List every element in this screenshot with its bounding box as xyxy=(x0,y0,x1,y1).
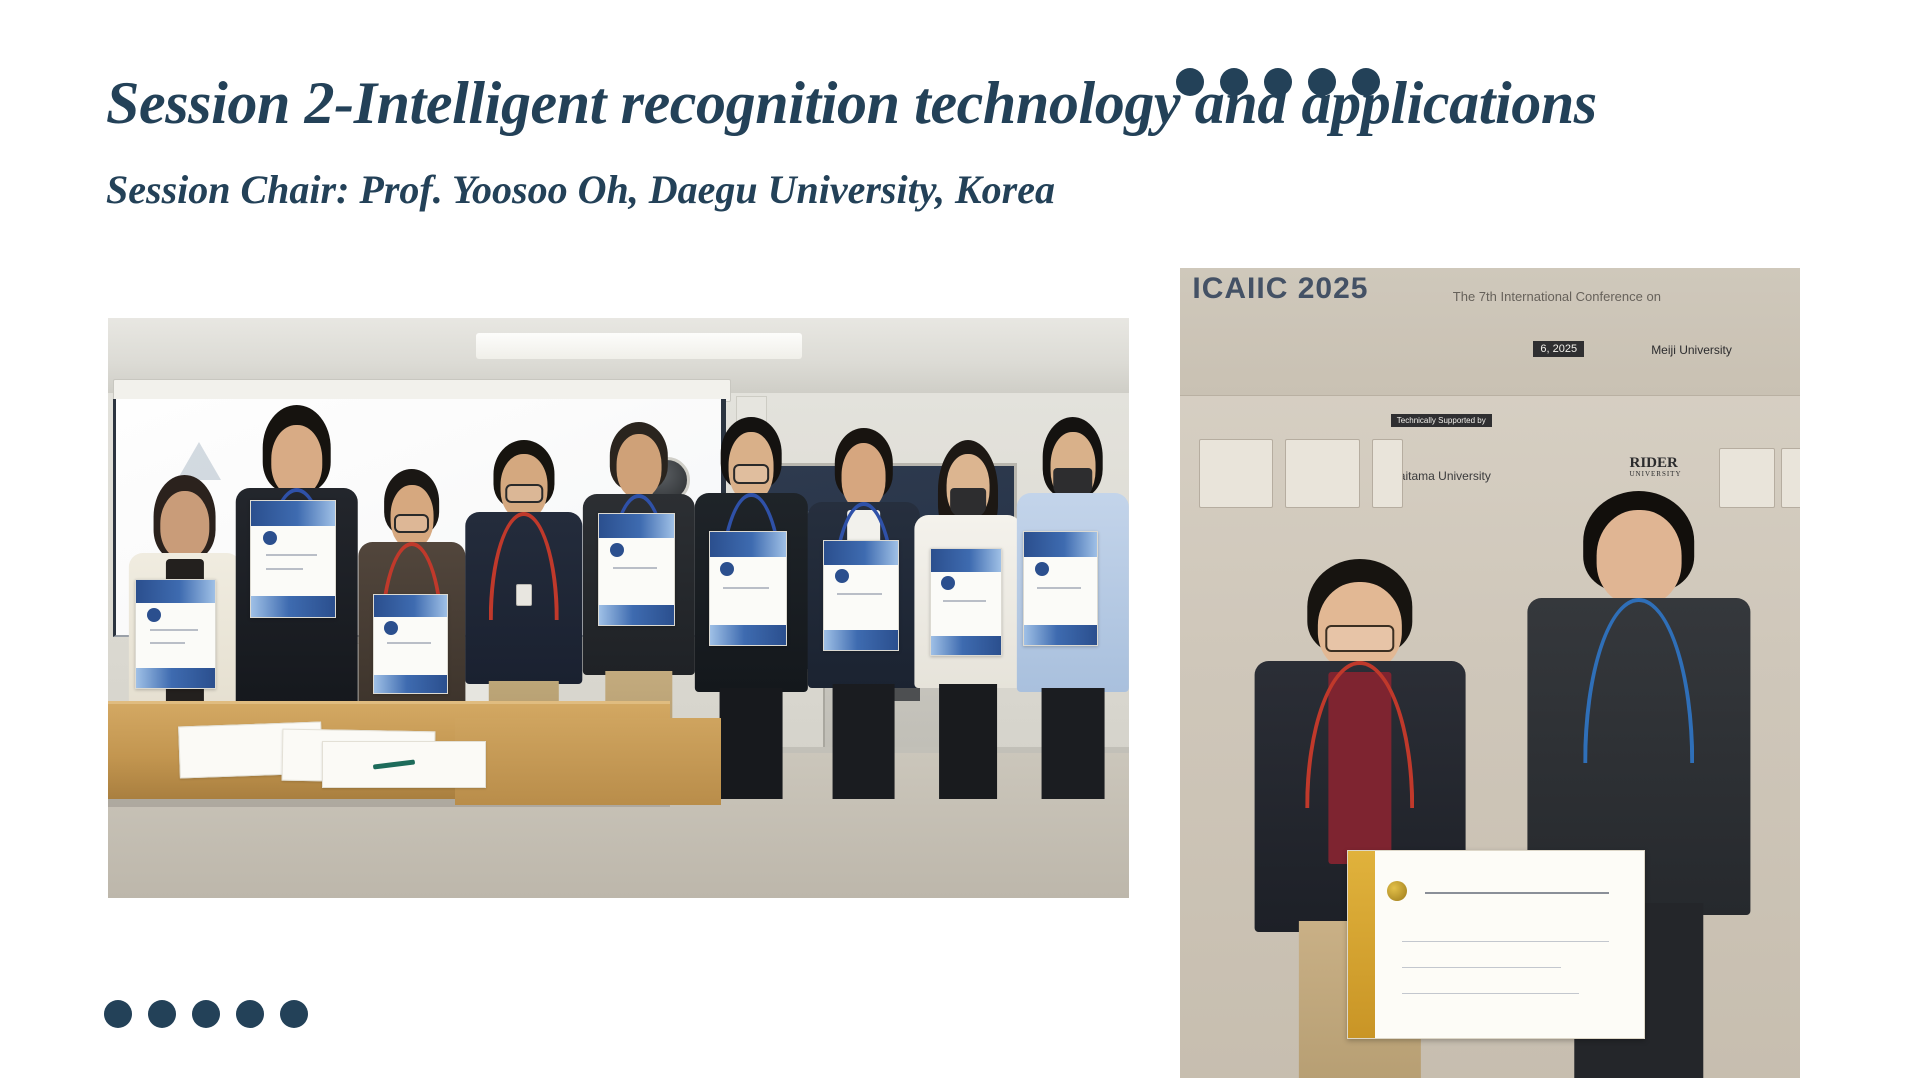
award-backdrop-date: 6, 2025 xyxy=(1533,356,1584,357)
certificate-seal-icon xyxy=(384,621,398,635)
dot-icon xyxy=(280,1000,308,1028)
sponsor-rider-name: RIDER xyxy=(1630,455,1678,471)
certificate-seal-icon xyxy=(720,562,734,576)
photo-face-mask-icon xyxy=(950,488,987,518)
best-presentation-panel: Best Presentation ICAIIC 2025 The 7th In… xyxy=(1180,268,1800,1078)
award-sponsor-logo-icon xyxy=(1372,439,1403,508)
photo-person-head xyxy=(501,454,548,519)
award-sponsor-logo-icon xyxy=(1290,439,1360,508)
photo-certificate xyxy=(598,513,674,626)
photo-certificate xyxy=(1023,531,1097,646)
photo-person-legs xyxy=(1041,688,1104,799)
photo-person-head xyxy=(271,425,322,496)
sponsor-rider-subtitle: UNIVERSITY xyxy=(1630,471,1682,478)
photo-certificate xyxy=(373,594,448,693)
award-person-presenter-left xyxy=(1290,559,1465,794)
certificate-line xyxy=(266,554,316,556)
photo-glasses-icon xyxy=(394,514,429,533)
dot-icon xyxy=(236,1000,264,1028)
photo-person-head xyxy=(1050,432,1095,501)
photo-certificate xyxy=(709,531,788,646)
certificate-seal-icon xyxy=(147,608,161,622)
photo-badge xyxy=(516,584,532,606)
photo-person-head xyxy=(160,491,209,559)
photo-person xyxy=(915,440,1022,800)
certificate-line xyxy=(1037,587,1080,589)
group-photo xyxy=(108,318,1129,898)
photo-person-head xyxy=(947,454,990,519)
photo-certificate xyxy=(823,540,899,651)
award-photo: ICAIIC 2025 The 7th International Confer… xyxy=(1290,356,1690,794)
dot-icon xyxy=(1220,68,1248,96)
photo-person xyxy=(1017,417,1129,800)
photo-certificate xyxy=(135,579,216,689)
award-person-awardee-right xyxy=(1527,491,1690,794)
photo-desk xyxy=(455,718,720,805)
photo-person-head xyxy=(616,434,661,498)
photo-person xyxy=(807,428,919,799)
photo-certificate xyxy=(250,500,336,618)
certificate-line xyxy=(266,568,303,570)
certificate-line xyxy=(613,567,658,569)
certificate-seal-icon xyxy=(1035,562,1049,576)
award-backdrop-support-label: Technically Supported by xyxy=(1391,414,1492,427)
photo-certificate xyxy=(930,548,1003,656)
award-backdrop-venue: Meiji University xyxy=(1651,356,1690,358)
certificate-line xyxy=(150,629,197,631)
certificate-line xyxy=(387,642,431,644)
certificate-line xyxy=(150,642,185,644)
photo-person-legs xyxy=(939,684,997,799)
dot-icon xyxy=(1352,68,1380,96)
certificate-seal-icon xyxy=(835,569,849,583)
dot-icon xyxy=(104,1000,132,1028)
dot-icon xyxy=(1308,68,1336,96)
dot-icon xyxy=(148,1000,176,1028)
session-chair-subtitle: Session Chair: Prof. Yoosoo Oh, Daegu Un… xyxy=(106,168,1055,212)
dot-icon xyxy=(1176,68,1204,96)
decorative-dots-bottom-left xyxy=(104,1000,308,1028)
photo-ceiling-light xyxy=(476,333,803,359)
photo-glasses-icon xyxy=(505,484,544,503)
certificate-seal-icon xyxy=(610,543,624,557)
award-person-head xyxy=(1596,510,1681,605)
photo-glasses-icon xyxy=(733,464,770,485)
award-person-head xyxy=(1318,582,1402,672)
certificate-line xyxy=(837,593,882,595)
certificate-line xyxy=(723,587,769,589)
photo-person-legs xyxy=(832,684,895,799)
award-backdrop-sponsor-saitama: Saitama University xyxy=(1391,469,1491,483)
decorative-dots-top-right xyxy=(1176,68,1380,96)
slide-canvas: Session 2-Intelligent recognition techno… xyxy=(0,0,1920,1078)
photo-person-head xyxy=(390,485,433,548)
certificate-line xyxy=(943,600,986,602)
photo-person-head xyxy=(729,432,774,501)
award-backdrop-band xyxy=(1290,356,1690,397)
award-glasses-icon xyxy=(1325,625,1394,652)
certificate-seal-icon xyxy=(941,576,955,590)
dot-icon xyxy=(192,1000,220,1028)
photo-person-head xyxy=(841,443,886,510)
award-backdrop-sponsor-rider: RIDER UNIVERSITY xyxy=(1630,456,1682,478)
dot-icon xyxy=(1264,68,1292,96)
certificate-seal-icon xyxy=(263,531,277,545)
photo-person-legs xyxy=(720,688,783,799)
